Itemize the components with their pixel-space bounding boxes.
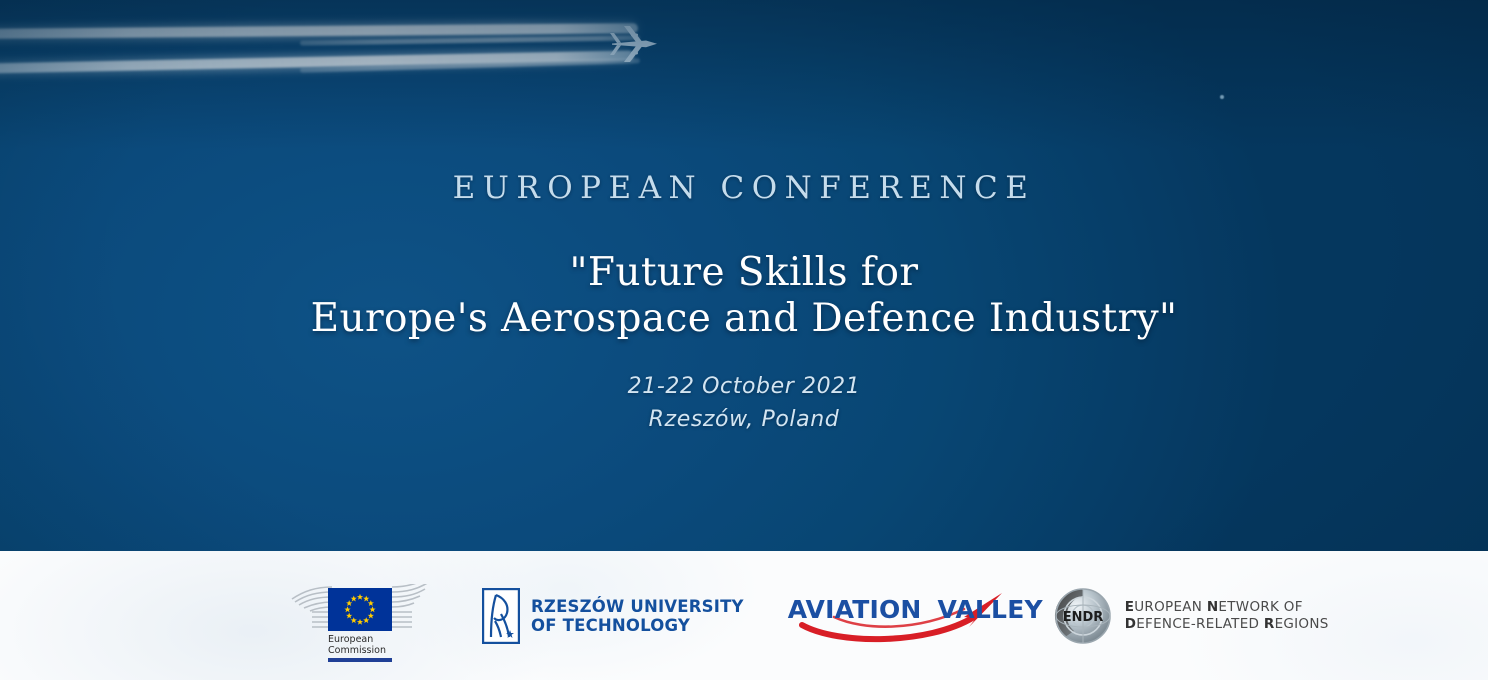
ec-wave-lines-icon bbox=[392, 584, 438, 634]
pr-monogram-icon bbox=[482, 588, 520, 644]
logo-aviation-valley[interactable]: AVIATIONVALLEY bbox=[788, 587, 1010, 645]
eu-flag-icon bbox=[328, 588, 392, 631]
globe-emblem-icon: ENDR bbox=[1054, 587, 1112, 645]
endr-line-2-rest-a: EFENCE-RELATED bbox=[1136, 616, 1264, 632]
endr-wordmark-line-1: EUROPEAN NETWORK OF bbox=[1125, 599, 1329, 616]
event-date: 21-22 October 2021 bbox=[0, 370, 1488, 403]
ec-wordmark-line-1: European bbox=[328, 634, 394, 645]
ec-wordmark-line-2: Commission bbox=[328, 645, 394, 656]
logo-endr[interactable]: ENDR EUROPEAN NETWORK OF DEFENCE-RELATED… bbox=[1054, 585, 1329, 647]
ec-underline bbox=[328, 658, 392, 662]
endr-line-1-rest-b: ETWORK OF bbox=[1218, 599, 1302, 615]
ec-wordmark: European Commission bbox=[328, 634, 394, 656]
event-location: Rzeszów, Poland bbox=[0, 403, 1488, 436]
aviation-valley-wordmark: AVIATIONVALLEY bbox=[788, 595, 1043, 624]
conference-eyebrow: EUROPEAN CONFERENCE bbox=[0, 170, 1488, 206]
rut-wordmark: RZESZÓW UNIVERSITY OF TECHNOLOGY bbox=[531, 597, 744, 635]
logo-rzeszow-university-of-technology[interactable]: RZESZÓW UNIVERSITY OF TECHNOLOGY bbox=[482, 588, 744, 644]
logo-footer: European Commission bbox=[0, 551, 1488, 680]
rut-wordmark-line-1: RZESZÓW UNIVERSITY bbox=[531, 597, 744, 616]
av-word-aviation: AVIATION bbox=[788, 595, 922, 624]
event-details: 21-22 October 2021 Rzeszów, Poland bbox=[0, 370, 1488, 436]
endr-initial-d: D bbox=[1125, 616, 1137, 632]
partner-logos: European Commission bbox=[286, 551, 1329, 680]
logo-european-commission[interactable]: European Commission bbox=[286, 566, 438, 666]
endr-line-1-rest-a: UROPEAN bbox=[1134, 599, 1207, 615]
endr-initial-r: R bbox=[1264, 616, 1275, 632]
ec-wave-lines-icon bbox=[286, 584, 332, 634]
endr-wordmark: EUROPEAN NETWORK OF DEFENCE-RELATED REGI… bbox=[1125, 599, 1329, 633]
endr-initial-e: E bbox=[1125, 599, 1135, 615]
endr-wordmark-line-2: DEFENCE-RELATED REGIONS bbox=[1125, 616, 1329, 633]
page-title: "Future Skills for Europe's Aerospace an… bbox=[0, 252, 1488, 340]
endr-initial-n: N bbox=[1207, 599, 1219, 615]
endr-line-2-rest-b: EGIONS bbox=[1275, 616, 1329, 632]
title-line-2: Europe's Aerospace and Defence Industry" bbox=[0, 298, 1488, 339]
rut-wordmark-line-2: OF TECHNOLOGY bbox=[531, 616, 744, 635]
conference-banner: EUROPEAN CONFERENCE "Future Skills for E… bbox=[0, 0, 1488, 680]
title-line-1: "Future Skills for bbox=[0, 252, 1488, 293]
endr-emblem-text: ENDR bbox=[1062, 610, 1103, 625]
banner-content: EUROPEAN CONFERENCE "Future Skills for E… bbox=[0, 0, 1488, 551]
av-word-valley: VALLEY bbox=[938, 595, 1043, 624]
